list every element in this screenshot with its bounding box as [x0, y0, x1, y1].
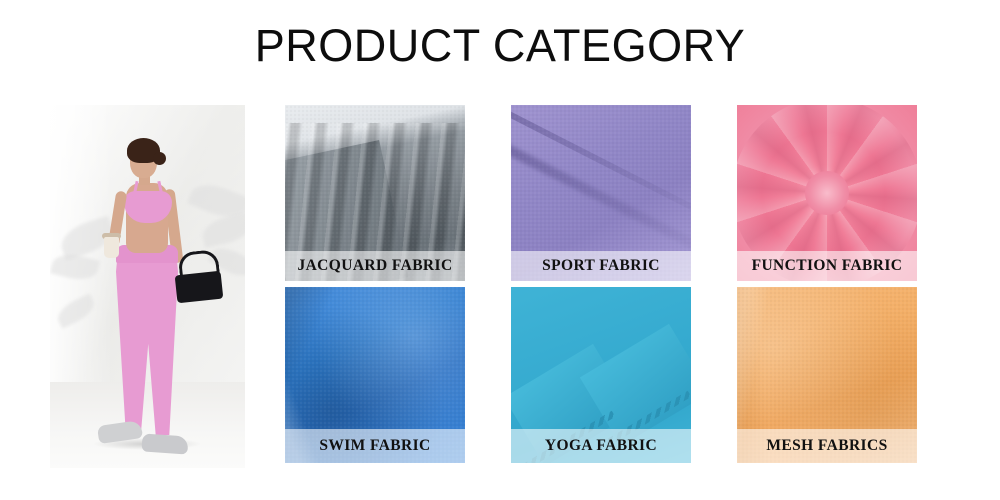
category-label-jacquard-fabric: JACQUARD FABRIC — [285, 251, 465, 281]
category-card-sport-fabric[interactable]: SPORT FABRIC — [511, 105, 691, 281]
category-grid: JACQUARD FABRIC SPORT FABRIC FUNCTION FA… — [285, 105, 917, 465]
category-label-mesh-fabrics: MESH FABRICS — [737, 429, 917, 463]
category-card-yoga-fabric[interactable]: YOGA FABRIC — [511, 287, 691, 463]
model-figure — [50, 105, 245, 468]
hero-model-image[interactable] — [50, 105, 245, 468]
product-category-banner: PRODUCT CATEGORY — [0, 0, 1000, 500]
fabric-swirl-center — [805, 171, 849, 215]
category-label-yoga-fabric: YOGA FABRIC — [511, 429, 691, 463]
category-card-mesh-fabrics[interactable]: MESH FABRICS — [737, 287, 917, 463]
category-label-sport-fabric: SPORT FABRIC — [511, 251, 691, 281]
sneaker-right-icon — [141, 433, 188, 454]
category-label-swim-fabric: SWIM FABRIC — [285, 429, 465, 463]
page-title: PRODUCT CATEGORY — [0, 22, 1000, 69]
category-card-jacquard-fabric[interactable]: JACQUARD FABRIC — [285, 105, 465, 281]
pink-flare-pants — [116, 245, 178, 435]
black-handbag-icon — [175, 271, 224, 304]
coffee-cup-icon — [104, 237, 119, 258]
category-card-function-fabric[interactable]: FUNCTION FABRIC — [737, 105, 917, 281]
category-card-swim-fabric[interactable]: SWIM FABRIC — [285, 287, 465, 463]
category-label-function-fabric: FUNCTION FABRIC — [737, 251, 917, 281]
model-hair-bun — [153, 152, 166, 165]
